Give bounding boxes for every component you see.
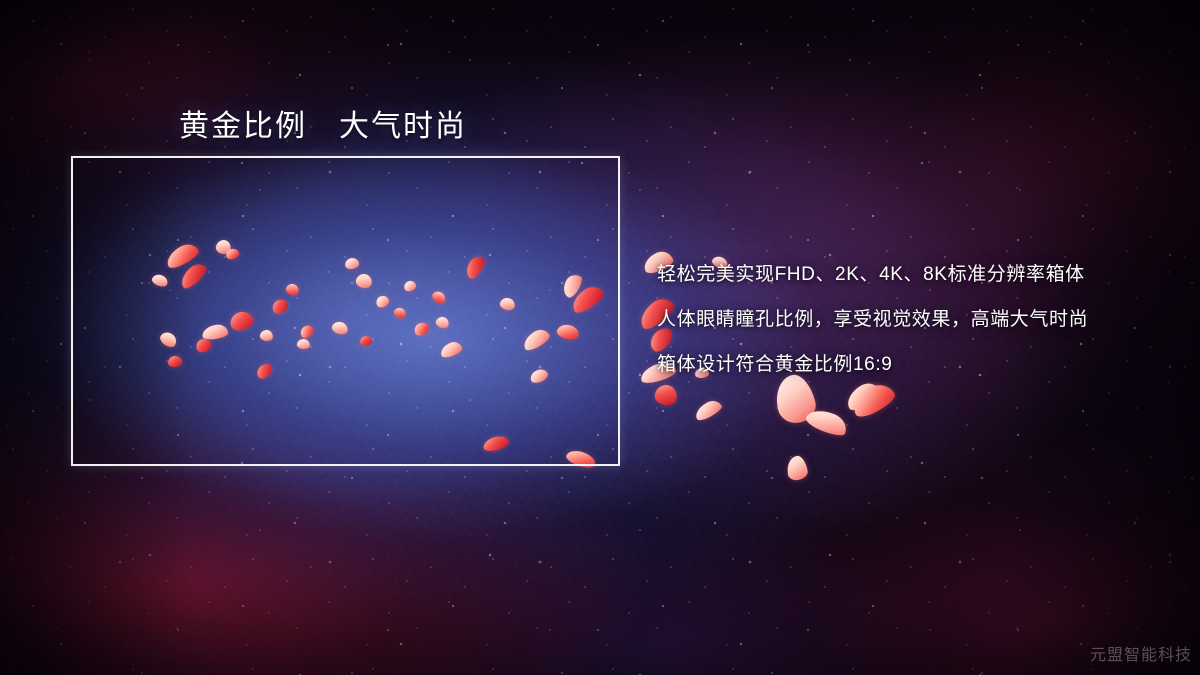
body-text-block: 轻松完美实现FHD、2K、4K、8K标准分辨率箱体 人体眼睛瞳孔比例，享受视觉效…	[657, 252, 1177, 387]
body-line-2: 人体眼睛瞳孔比例，享受视觉效果，高端大气时尚	[657, 297, 1177, 342]
led-display-frame	[71, 156, 620, 466]
body-line-3: 箱体设计符合黄金比例16:9	[657, 342, 1177, 387]
watermark: 元盟智能科技	[1090, 641, 1192, 665]
petal	[804, 405, 850, 439]
presentation-slide: 黄金比例 大气时尚 轻松完美实现FHD、2K、4K、8K标准分辨率箱体 人体眼睛…	[0, 0, 1200, 675]
body-line-1: 轻松完美实现FHD、2K、4K、8K标准分辨率箱体	[657, 252, 1177, 297]
petal	[785, 454, 809, 481]
page-title: 黄金比例 大气时尚	[179, 101, 467, 145]
petal	[692, 397, 723, 423]
